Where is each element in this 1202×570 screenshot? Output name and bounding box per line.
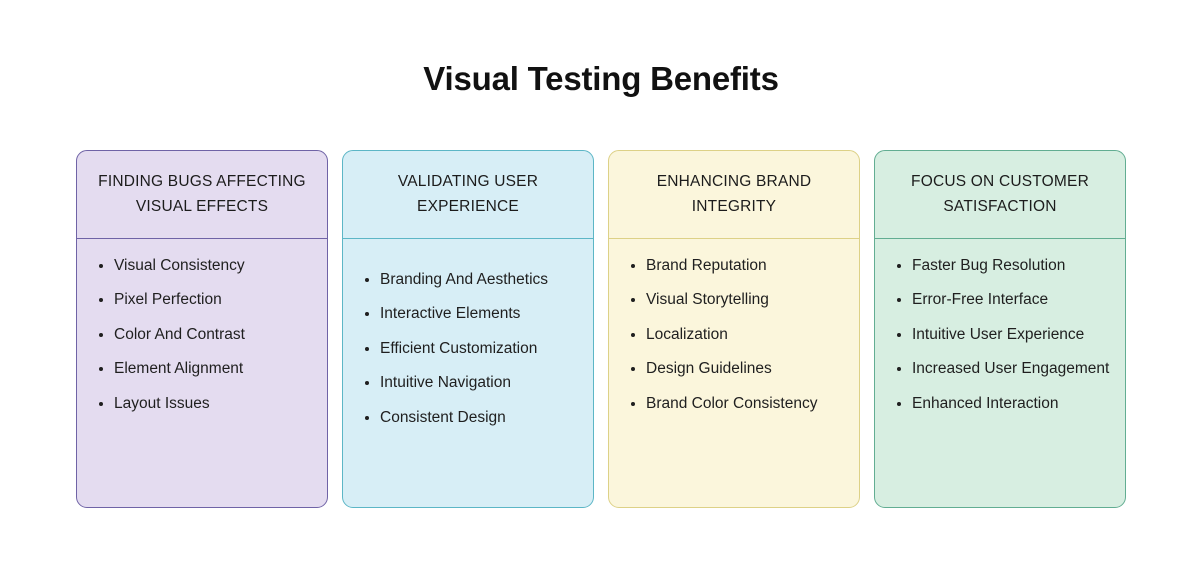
card-heading: ENHANCING BRAND INTEGRITY bbox=[623, 170, 845, 218]
card-header: VALIDATING USER EXPERIENCE bbox=[343, 151, 593, 239]
list-item: Enhanced Interaction bbox=[897, 393, 1115, 415]
list-item: Consistent Design bbox=[365, 407, 583, 429]
list-item: Brand Reputation bbox=[631, 255, 849, 277]
card-header: ENHANCING BRAND INTEGRITY bbox=[609, 151, 859, 239]
card-body: Visual Consistency Pixel Perfection Colo… bbox=[77, 239, 327, 507]
list-item: Faster Bug Resolution bbox=[897, 255, 1115, 277]
list-item: Design Guidelines bbox=[631, 358, 849, 380]
list-item: Intuitive Navigation bbox=[365, 372, 583, 394]
card-body: Faster Bug Resolution Error-Free Interfa… bbox=[875, 239, 1125, 507]
infographic-page: Visual Testing Benefits FINDING BUGS AFF… bbox=[0, 0, 1202, 570]
benefit-cards-row: FINDING BUGS AFFECTING VISUAL EFFECTS Vi… bbox=[76, 150, 1126, 508]
card-header: FOCUS ON CUSTOMER SATISFACTION bbox=[875, 151, 1125, 239]
benefit-card-focus-on-customer-satisfaction: FOCUS ON CUSTOMER SATISFACTION Faster Bu… bbox=[874, 150, 1126, 508]
list-item: Visual Consistency bbox=[99, 255, 317, 277]
list-item: Intuitive User Experience bbox=[897, 324, 1115, 346]
list-item: Branding And Aesthetics bbox=[365, 269, 583, 291]
card-heading: VALIDATING USER EXPERIENCE bbox=[357, 170, 579, 218]
list-item: Efficient Customization bbox=[365, 338, 583, 360]
benefit-card-validating-user-experience: VALIDATING USER EXPERIENCE Branding And … bbox=[342, 150, 594, 508]
list-item: Layout Issues bbox=[99, 393, 317, 415]
page-title: Visual Testing Benefits bbox=[0, 60, 1202, 98]
card-heading: FOCUS ON CUSTOMER SATISFACTION bbox=[889, 170, 1111, 218]
benefit-list: Branding And Aesthetics Interactive Elem… bbox=[365, 269, 583, 429]
list-item: Pixel Perfection bbox=[99, 289, 317, 311]
benefit-list: Faster Bug Resolution Error-Free Interfa… bbox=[897, 255, 1115, 415]
card-body: Brand Reputation Visual Storytelling Loc… bbox=[609, 239, 859, 507]
list-item: Error-Free Interface bbox=[897, 289, 1115, 311]
card-heading: FINDING BUGS AFFECTING VISUAL EFFECTS bbox=[91, 170, 313, 218]
benefit-list: Visual Consistency Pixel Perfection Colo… bbox=[99, 255, 317, 415]
list-item: Brand Color Consistency bbox=[631, 393, 849, 415]
list-item: Visual Storytelling bbox=[631, 289, 849, 311]
list-item: Color And Contrast bbox=[99, 324, 317, 346]
benefit-card-enhancing-brand-integrity: ENHANCING BRAND INTEGRITY Brand Reputati… bbox=[608, 150, 860, 508]
list-item: Localization bbox=[631, 324, 849, 346]
card-header: FINDING BUGS AFFECTING VISUAL EFFECTS bbox=[77, 151, 327, 239]
list-item: Interactive Elements bbox=[365, 303, 583, 325]
benefit-list: Brand Reputation Visual Storytelling Loc… bbox=[631, 255, 849, 415]
benefit-card-finding-bugs-affecting-visual-effects: FINDING BUGS AFFECTING VISUAL EFFECTS Vi… bbox=[76, 150, 328, 508]
list-item: Element Alignment bbox=[99, 358, 317, 380]
list-item: Increased User Engagement bbox=[897, 358, 1115, 380]
card-body: Branding And Aesthetics Interactive Elem… bbox=[343, 239, 593, 507]
